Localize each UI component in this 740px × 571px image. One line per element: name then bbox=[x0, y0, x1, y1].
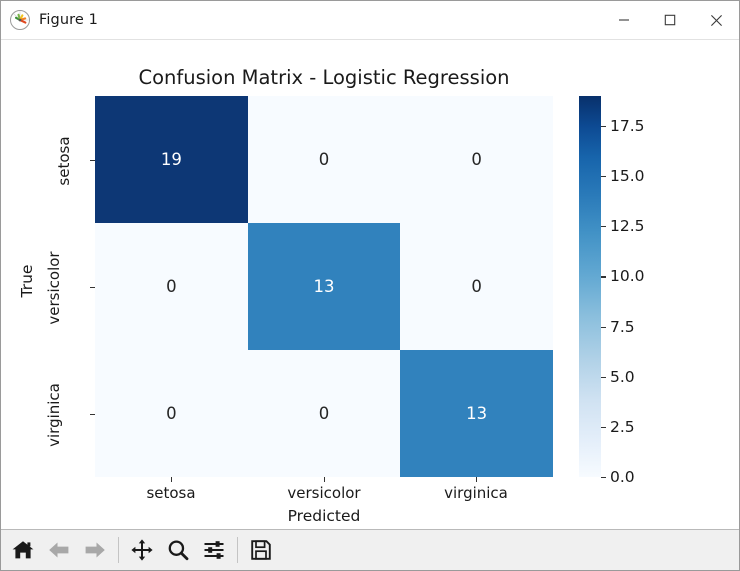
heatmap-axes: 19 0 0 0 13 0 0 0 13 setosa versicolor v… bbox=[95, 96, 553, 477]
zoom-icon[interactable] bbox=[160, 533, 196, 567]
window-title: Figure 1 bbox=[39, 12, 98, 28]
chart-title: Confusion Matrix - Logistic Regression bbox=[95, 66, 553, 89]
y-axis-label: True bbox=[18, 251, 36, 311]
matrix-cell: 0 bbox=[95, 223, 248, 350]
colorbar-tick bbox=[601, 126, 606, 127]
title-bar: Figure 1 bbox=[1, 1, 739, 40]
back-arrow-icon[interactable] bbox=[41, 533, 77, 567]
colorbar: 0.0 2.5 5.0 7.5 10.0 12.5 15.0 17.5 bbox=[579, 96, 601, 477]
x-tick-mark bbox=[324, 477, 325, 482]
colorbar-tick bbox=[601, 276, 606, 277]
y-tick-mark bbox=[90, 160, 95, 161]
matrix-cell: 19 bbox=[95, 96, 248, 223]
matrix-cell: 0 bbox=[248, 96, 401, 223]
save-icon[interactable] bbox=[243, 533, 279, 567]
y-tick-label-setosa: setosa bbox=[55, 116, 73, 206]
y-tick-label-versicolor: versicolor bbox=[45, 233, 63, 343]
confusion-matrix-grid: 19 0 0 0 13 0 0 0 13 bbox=[95, 96, 553, 477]
colorbar-label: 12.5 bbox=[610, 217, 645, 235]
y-tick-label-virginica: virginica bbox=[45, 360, 63, 470]
toolbar-separator bbox=[237, 537, 238, 563]
x-tick-label-versicolor: versicolor bbox=[254, 484, 394, 502]
colorbar-label: 17.5 bbox=[610, 117, 645, 135]
colorbar-tick bbox=[601, 377, 606, 378]
close-button[interactable] bbox=[693, 1, 739, 39]
x-axis-label: Predicted bbox=[95, 507, 553, 525]
colorbar-label: 15.0 bbox=[610, 167, 645, 185]
matrix-cell: 0 bbox=[248, 350, 401, 477]
figure-window: Figure 1 Confusion Matrix - Logist bbox=[0, 0, 740, 571]
matrix-cell: 0 bbox=[95, 350, 248, 477]
colorbar-tick bbox=[601, 477, 606, 478]
maximize-button[interactable] bbox=[647, 1, 693, 39]
x-tick-mark bbox=[476, 477, 477, 482]
matrix-cell: 0 bbox=[400, 223, 553, 350]
x-tick-mark bbox=[171, 477, 172, 482]
colorbar-tick bbox=[601, 226, 606, 227]
colorbar-tick bbox=[601, 176, 606, 177]
toolbar-separator bbox=[118, 537, 119, 563]
window-controls bbox=[601, 1, 739, 39]
home-icon[interactable] bbox=[5, 533, 41, 567]
pan-icon[interactable] bbox=[124, 533, 160, 567]
colorbar-label: 10.0 bbox=[610, 267, 645, 285]
y-tick-mark bbox=[90, 414, 95, 415]
forward-arrow-icon[interactable] bbox=[77, 533, 113, 567]
colorbar-tick bbox=[601, 327, 606, 328]
colorbar-label: 7.5 bbox=[610, 318, 635, 336]
navigation-toolbar bbox=[1, 529, 739, 570]
x-tick-label-virginica: virginica bbox=[406, 484, 546, 502]
matrix-cell: 13 bbox=[248, 223, 401, 350]
colorbar-label: 0.0 bbox=[610, 468, 635, 486]
minimize-button[interactable] bbox=[601, 1, 647, 39]
colorbar-label: 5.0 bbox=[610, 368, 635, 386]
matplotlib-icon bbox=[9, 9, 31, 31]
matrix-cell: 0 bbox=[400, 96, 553, 223]
y-tick-mark bbox=[90, 287, 95, 288]
configure-subplots-icon[interactable] bbox=[196, 533, 232, 567]
colorbar-tick bbox=[601, 427, 606, 428]
x-tick-label-setosa: setosa bbox=[101, 484, 241, 502]
figure-canvas[interactable]: Confusion Matrix - Logistic Regression 1… bbox=[1, 40, 739, 529]
colorbar-label: 2.5 bbox=[610, 418, 635, 436]
matrix-cell: 13 bbox=[400, 350, 553, 477]
